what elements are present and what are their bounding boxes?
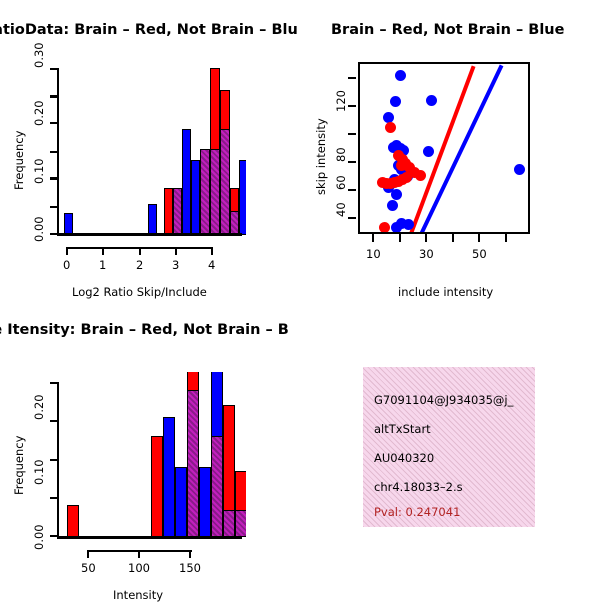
x-tick-mark-150-bottom bbox=[189, 550, 191, 558]
bar-overlap-2.8 bbox=[173, 188, 182, 235]
bar-notbrain-4.0 bbox=[239, 160, 246, 235]
scatter-point-brain bbox=[401, 172, 412, 183]
bar-overlap-3.8 bbox=[230, 211, 239, 235]
bar-notbrain-2.2 bbox=[148, 204, 157, 235]
scatter-plot-frame bbox=[358, 62, 530, 234]
bar-notbrain-3.0 bbox=[182, 129, 191, 235]
bar-notbrain-3.2 bbox=[191, 160, 200, 235]
x-tick-label-10: 10 bbox=[366, 247, 381, 261]
bars-area-log2-ratio bbox=[56, 60, 246, 236]
bar-overlap-3.6 bbox=[220, 129, 230, 235]
bar-notbrain-85 bbox=[163, 417, 175, 537]
bar-overlap-140 bbox=[235, 510, 246, 537]
bar-overlap-120 bbox=[211, 436, 223, 537]
x-tick-mark-1-top bbox=[102, 247, 104, 255]
bar-notbrain-95 bbox=[175, 467, 187, 537]
scatter-point-not-brain bbox=[426, 95, 437, 106]
x-tick-mark-2-top bbox=[139, 247, 141, 255]
y-tick-label-0.00-bottom: 0.00 bbox=[32, 524, 46, 550]
x-tick-mark-50 bbox=[478, 234, 480, 242]
bar-brain-2.6 bbox=[164, 188, 173, 235]
y-tick-mark-60 bbox=[348, 189, 356, 191]
bar-overlap-130 bbox=[223, 510, 235, 537]
scatter-point-not-brain bbox=[390, 96, 401, 107]
y-tick-label-60: 60 bbox=[334, 175, 348, 190]
x-tick-mark-4-top bbox=[211, 247, 213, 255]
y-tick-mark-140 bbox=[348, 77, 356, 79]
y-tick-label-40: 40 bbox=[334, 202, 348, 217]
x-tick-label-30: 30 bbox=[419, 247, 434, 261]
scatter-point-brain bbox=[385, 122, 396, 133]
panel-log2-ratio-histogram: RatioData: Brain – Red, Not Brain – Blu … bbox=[0, 0, 300, 300]
info-line-gene-id: G7091104@J934035@j_ bbox=[374, 393, 513, 407]
y-axis-label-frequency-bottom: Frequency bbox=[12, 436, 26, 495]
panel-title-scatter: Brain – Red, Not Brain – Blue bbox=[331, 22, 564, 38]
x-tick-mark-40 bbox=[452, 234, 454, 242]
x-tick-label-3-top: 3 bbox=[172, 258, 179, 272]
panel-title-gene-intensity: ne Itensity: Brain – Red, Not Brain – B bbox=[0, 322, 289, 338]
x-axis-label-log2ratio: Log2 Ratio Skip/Include bbox=[72, 285, 207, 299]
scatter-point-not-brain bbox=[391, 189, 402, 200]
bar-brain-35 bbox=[67, 505, 79, 537]
y-tick-1-top: 0.10 bbox=[32, 158, 46, 184]
bar-overlap-100 bbox=[187, 390, 199, 537]
panel-gene-intensity-histogram: ne Itensity: Brain – Red, Not Brain – B … bbox=[0, 300, 300, 600]
x-tick-mark-3-top bbox=[175, 247, 177, 255]
y-tick-mark-40 bbox=[348, 217, 356, 219]
x-tick-label-50: 50 bbox=[472, 247, 487, 261]
y-tick-label-0.20-bottom: 0.20 bbox=[32, 394, 46, 420]
x-tick-mark-100-bottom bbox=[138, 550, 140, 558]
panel-title-log2-ratio: RatioData: Brain – Red, Not Brain – Blu bbox=[0, 22, 298, 38]
x-tick-label-150-bottom: 150 bbox=[179, 561, 201, 575]
info-line-pval: Pval: 0.247041 bbox=[374, 505, 460, 519]
plot-baseline-bottom bbox=[57, 536, 242, 539]
scatter-point-not-brain bbox=[423, 146, 434, 157]
y-tick-0-top: 0.00 bbox=[32, 216, 46, 242]
x-tick-mark-50-bottom bbox=[87, 550, 89, 558]
x-tick-mark-20 bbox=[399, 234, 401, 242]
y-tick-3-top: 0.30 bbox=[32, 42, 46, 68]
x-tick-label-2-top: 2 bbox=[136, 258, 143, 272]
y-tick-label-0.10-bottom: 0.10 bbox=[32, 459, 46, 485]
scatter-point-not-brain bbox=[387, 200, 398, 211]
y-tick-mark-80 bbox=[348, 161, 356, 163]
y-tick-mark-100 bbox=[348, 133, 356, 135]
y-tick-mark-120 bbox=[348, 105, 356, 107]
x-tick-label-4-top: 4 bbox=[208, 258, 215, 272]
x-tick-label-1-top: 1 bbox=[99, 258, 106, 272]
gene-info-box: G7091104@J934035@j_ altTxStart AU040320 … bbox=[363, 367, 535, 527]
bar-overlap-3.2 bbox=[200, 149, 210, 235]
bar-brain-80 bbox=[151, 436, 163, 537]
info-line-locus: chr4.18033–2.s bbox=[374, 480, 463, 494]
scatter-point-not-brain bbox=[391, 222, 402, 233]
y-tick-label-120: 120 bbox=[334, 90, 348, 112]
scatter-point-not-brain bbox=[395, 70, 406, 81]
x-tick-label-0-top: 0 bbox=[63, 258, 70, 272]
scatter-point-brain bbox=[396, 160, 407, 171]
panel-intensity-scatter: Brain – Red, Not Brain – Blue skip inten… bbox=[300, 0, 600, 300]
info-line-accession: AU040320 bbox=[374, 451, 434, 465]
scatter-point-not-brain bbox=[403, 219, 414, 230]
info-line-event-type: altTxStart bbox=[374, 422, 431, 436]
x-tick-mark-10 bbox=[372, 234, 374, 242]
x-axis-label-include-intensity: include intensity bbox=[398, 285, 493, 299]
bar-notbrain-0.0 bbox=[64, 213, 73, 235]
plot-baseline-top bbox=[57, 233, 242, 236]
scatter-point-brain bbox=[379, 222, 390, 233]
x-tick-mark-30 bbox=[425, 234, 427, 242]
scatter-point-not-brain bbox=[514, 164, 525, 175]
bar-notbrain-110 bbox=[199, 467, 211, 537]
x-tick-label-100-bottom: 100 bbox=[128, 561, 150, 575]
bar-overlap-3.4 bbox=[210, 149, 220, 235]
y-tick-label-80: 80 bbox=[334, 147, 348, 162]
scatter-point-brain bbox=[415, 170, 426, 181]
y-axis-label-skip-intensity: skip intensity bbox=[314, 118, 328, 195]
y-axis-label-frequency-top: Frequency bbox=[12, 131, 26, 190]
x-tick-mark-60 bbox=[505, 234, 507, 242]
fit-line-brain bbox=[408, 66, 475, 234]
bars-area-gene-intensity bbox=[56, 372, 246, 538]
y-tick-2-top: 0.20 bbox=[32, 100, 46, 126]
x-tick-label-50-bottom: 50 bbox=[81, 561, 96, 575]
x-tick-mark-0-top bbox=[66, 247, 68, 255]
